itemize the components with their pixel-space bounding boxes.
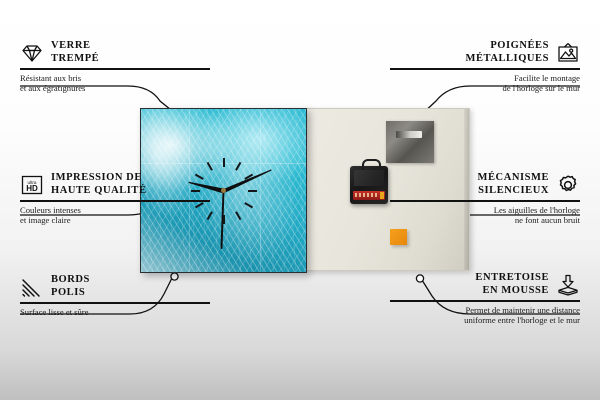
feature-rule [20, 200, 210, 202]
gear-icon [556, 173, 580, 197]
orange-foam-spacer [390, 229, 407, 245]
feature-mecanisme-silencieux: MÉCANISME SILENCIEUX Les aiguilles de l'… [390, 172, 580, 226]
feature-header: POIGNÉES MÉTALLIQUES [390, 40, 580, 65]
feature-rule [20, 302, 210, 304]
diamond-icon [20, 41, 44, 65]
ultra-hd-icon: ultra HD [20, 173, 44, 197]
feature-header: VERRE TREMPÉ [20, 40, 210, 65]
hanger-slot [396, 131, 422, 138]
feature-title: MÉCANISME SILENCIEUX [478, 172, 549, 197]
feature-desc-line1: Couleurs intenses [20, 205, 210, 216]
feature-desc-line1: Facilite le montage [390, 73, 580, 84]
glass-seam-vertical-right [260, 109, 261, 272]
feature-title: VERRE TREMPÉ [51, 40, 99, 65]
quartz-clock-mechanism [350, 166, 388, 204]
feature-verre-trempe: VERRE TREMPÉ Résistant aux bris et aux é… [20, 40, 210, 94]
polished-edge-icon [20, 275, 44, 299]
feature-title: BORDS POLIS [51, 274, 90, 299]
feature-desc-line2: uniforme entre l'horloge et le mur [390, 315, 580, 326]
feature-desc-line2: et aux égratignures [20, 83, 210, 94]
feature-poignees-metalliques: POIGNÉES MÉTALLIQUES Facilite le montage… [390, 40, 580, 94]
battery-terminal [380, 192, 384, 199]
feature-title: IMPRESSION DE HAUTE QUALITÉ [51, 172, 147, 197]
feature-desc-line1: Les aiguilles de l'horloge [390, 205, 580, 216]
battery-label [355, 193, 377, 197]
feature-header: ENTRETOISE EN MOUSSE [390, 272, 580, 297]
feature-desc-line2: de l'horloge sur le mur [390, 83, 580, 94]
feature-bords-polis: BORDS POLIS Surface lisse et sûre [20, 274, 210, 317]
mechanism-hanging-loop [362, 159, 381, 170]
clock-center-cap [221, 188, 226, 193]
feature-desc-line2: ne font aucun bruit [390, 215, 580, 226]
feature-rule [390, 200, 580, 202]
feature-header: BORDS POLIS [20, 274, 210, 299]
feature-desc-line1: Résistant aux bris [20, 73, 210, 84]
feature-header: MÉCANISME SILENCIEUX [390, 172, 580, 197]
feature-entretoise-en-mousse: ENTRETOISE EN MOUSSE Permet de maintenir… [390, 272, 580, 326]
aa-battery [353, 191, 385, 200]
feature-title: POIGNÉES MÉTALLIQUES [466, 40, 549, 65]
feature-header: ultra HD IMPRESSION DE HAUTE QUALITÉ [20, 172, 210, 197]
feature-rule [390, 300, 580, 302]
foam-spacer-icon [556, 273, 580, 297]
svg-text:HD: HD [26, 184, 38, 193]
feature-desc-line1: Permet de maintenir une distance [390, 305, 580, 316]
feature-rule [390, 68, 580, 70]
feature-desc-line2: et image claire [20, 215, 210, 226]
infographic-canvas: VERRE TREMPÉ Résistant aux bris et aux é… [0, 0, 600, 400]
feature-rule [20, 68, 210, 70]
picture-frame-icon [556, 41, 580, 65]
metal-hanger-bracket [386, 121, 434, 163]
mechanism-body [354, 170, 384, 186]
feature-desc-line1: Surface lisse et sûre [20, 307, 210, 318]
feature-title: ENTRETOISE EN MOUSSE [475, 272, 549, 297]
feature-impression-haute-qualite: ultra HD IMPRESSION DE HAUTE QUALITÉ Cou… [20, 172, 210, 226]
